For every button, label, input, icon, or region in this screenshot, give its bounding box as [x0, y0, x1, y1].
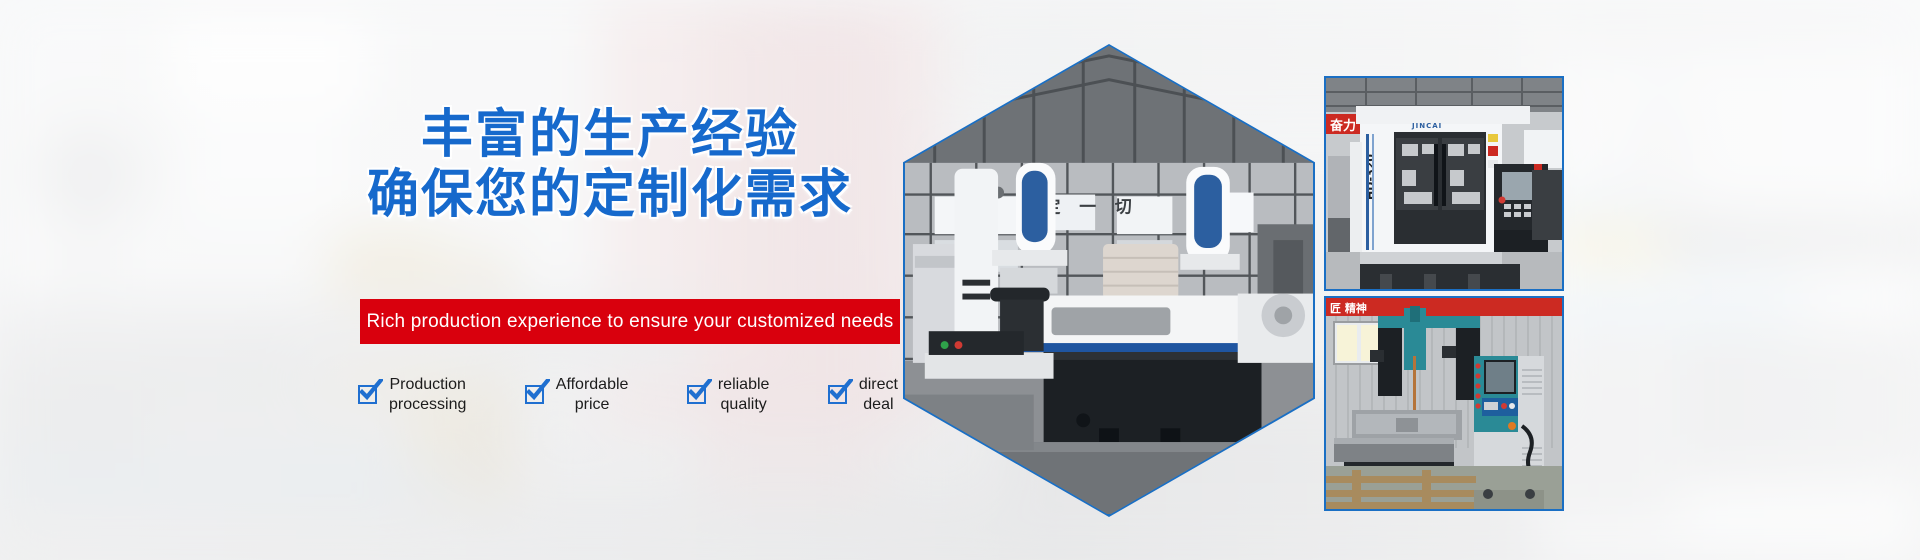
svg-text:HD-320: HD-320 [1364, 154, 1377, 200]
svg-text:切: 切 [1115, 196, 1132, 216]
feature-item-reliable-quality[interactable]: reliable quality [687, 375, 770, 416]
hexagon-photo: 定一切 [905, 46, 1313, 515]
feature-label-line-1: Affordable [556, 376, 629, 393]
checkbox-checked-icon[interactable] [358, 382, 380, 404]
feature-label-line-1: Production [389, 376, 466, 393]
feature-label-line-2: quality [721, 396, 767, 413]
svg-text:奋力: 奋力 [1329, 118, 1356, 134]
feature-item-direct-deal[interactable]: direct deal [828, 375, 898, 416]
subtitle-ribbon: Rich production experience to ensure you… [360, 299, 900, 344]
feature-label-line-2: processing [389, 396, 466, 413]
promo-banner: 丰富的生产经验 确保您的定制化需求 Rich production experi… [0, 0, 1920, 560]
headline-line-2: 确保您的定制化需求 [300, 165, 920, 225]
feature-item-affordable-price[interactable]: Affordable price [525, 375, 629, 416]
thumbnail-edm-wirecut-machine[interactable]: 匠 精神 [1324, 296, 1564, 511]
edm-machine-illustration: 匠 精神 [1326, 298, 1562, 509]
feature-label: Production processing [389, 375, 466, 416]
hd320-machine-illustration: 奋力 JINCAI HD-320 [1326, 78, 1562, 289]
hero-machine-illustration: 定一切 [905, 46, 1313, 514]
headline-line-1: 丰富的生产经验 [421, 105, 799, 165]
feature-label-line-2: price [575, 396, 610, 413]
thumbnail-hd320-machining-centre[interactable]: 奋力 JINCAI HD-320 [1324, 76, 1564, 291]
feature-item-production-processing[interactable]: Production processing [358, 375, 466, 416]
checkbox-checked-icon[interactable] [687, 382, 709, 404]
svg-text:一: 一 [1079, 196, 1096, 216]
feature-label-line-2: deal [863, 396, 893, 413]
svg-text:匠 精神: 匠 精神 [1330, 301, 1367, 315]
checkbox-checked-icon[interactable] [525, 382, 547, 404]
feature-label: Affordable price [556, 375, 629, 416]
headline: 丰富的生产经验 确保您的定制化需求 [300, 105, 920, 226]
feature-label: reliable quality [718, 375, 770, 416]
feature-label-line-1: reliable [718, 376, 770, 393]
feature-label: direct deal [859, 375, 898, 416]
svg-text:JINCAI: JINCAI [1411, 122, 1442, 130]
hero-photo-hexagon[interactable]: 定一切 [903, 44, 1315, 517]
subtitle-text: Rich production experience to ensure you… [366, 311, 893, 333]
checkbox-checked-icon[interactable] [828, 382, 850, 404]
feature-label-line-1: direct [859, 376, 898, 393]
feature-list: Production processing Affordable price [358, 375, 898, 416]
